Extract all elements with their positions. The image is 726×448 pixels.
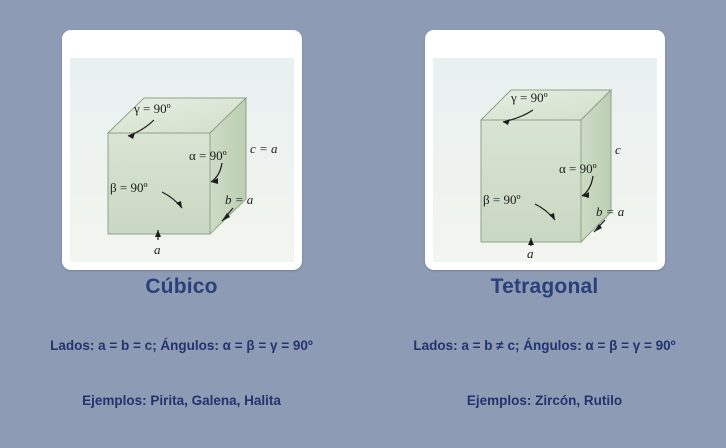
label-edge-b-cubic: b = a [225, 192, 254, 207]
label-alpha-cubic: α = 90º [189, 148, 227, 163]
label-edge-c-tetragonal: c [615, 142, 621, 157]
diagram-stage: γ = 90º α = 90º β = 90º [0, 0, 726, 448]
label-alpha-tetragonal: α = 90º [559, 161, 597, 176]
crystal-title-tetragonal: Tetragonal [363, 275, 726, 299]
crystal-image-cubic: γ = 90º α = 90º β = 90º [70, 58, 294, 262]
label-edge-b-tetragonal: b = a [596, 204, 625, 219]
crystal-image-tetragonal: γ = 90º α = 90º β = 90º [433, 58, 657, 262]
crystal-card-cubic: γ = 90º α = 90º β = 90º [62, 30, 302, 270]
crystal-panel-tetragonal: γ = 90º α = 90º β = 90º [363, 0, 726, 448]
crystal-examples-cubic: Ejemplos: Pirita, Galena, Halita [0, 393, 363, 408]
label-edge-c-cubic: c = a [250, 141, 278, 156]
crystal-title-cubic: Cúbico [0, 275, 363, 299]
crystal-examples-tetragonal: Ejemplos: Zircón, Rutilo [363, 393, 726, 408]
crystal-panel-cubic: γ = 90º α = 90º β = 90º [0, 0, 363, 448]
label-beta-cubic: β = 90º [110, 180, 147, 195]
label-beta-tetragonal: β = 90º [483, 192, 520, 207]
label-gamma-tetragonal: γ = 90º [510, 90, 548, 105]
cube-shape-cubic [108, 98, 246, 234]
crystal-sides-tetragonal: Lados: a = b ≠ c; Ángulos: α = β = γ = 9… [363, 338, 726, 353]
crystal-sides-cubic: Lados: a = b = c; Ángulos: α = β = γ = 9… [0, 338, 363, 353]
crystal-card-tetragonal: γ = 90º α = 90º β = 90º [425, 30, 665, 270]
label-edge-a-cubic: a [154, 242, 161, 257]
label-gamma-cubic: γ = 90º [133, 101, 171, 116]
label-edge-a-tetragonal: a [527, 246, 534, 261]
